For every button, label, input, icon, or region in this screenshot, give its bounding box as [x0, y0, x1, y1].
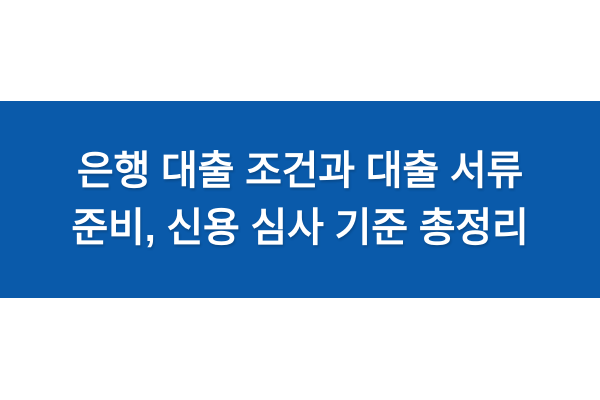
whitespace-above-banner — [0, 0, 600, 101]
page-title-line-2: 준비, 신용 심사 기준 총정리 — [0, 200, 600, 257]
whitespace-below-banner — [0, 298, 600, 400]
title-banner: 은행 대출 조건과 대출 서류 준비, 신용 심사 기준 총정리 — [0, 101, 600, 298]
page-title: 은행 대출 조건과 대출 서류 준비, 신용 심사 기준 총정리 — [0, 143, 600, 257]
page-canvas: 은행 대출 조건과 대출 서류 준비, 신용 심사 기준 총정리 — [0, 0, 600, 400]
page-title-line-1: 은행 대출 조건과 대출 서류 — [0, 143, 600, 200]
